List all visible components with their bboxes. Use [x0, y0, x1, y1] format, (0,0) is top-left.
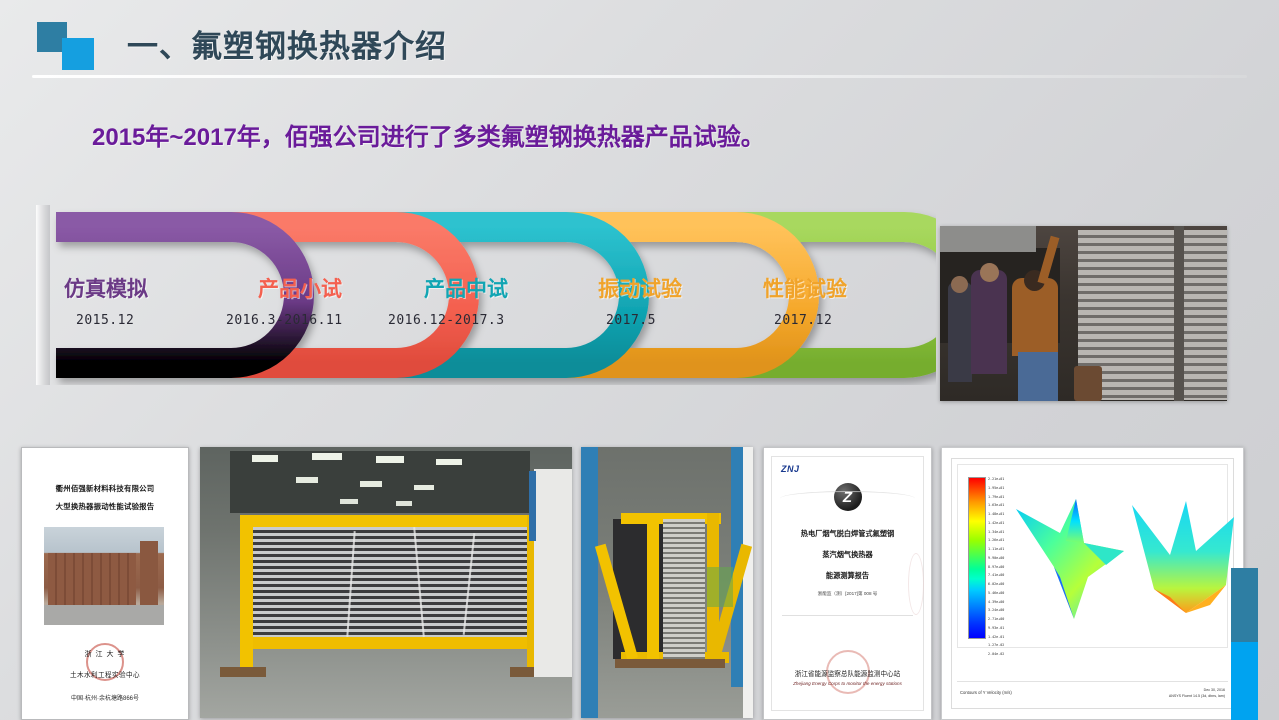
timeline-stage-label-3: 产品中试 [424, 273, 508, 303]
timeline-stage-label-2: 产品小试 [258, 273, 342, 303]
cfd-caption: Contours of Y Velocity (m/s) [960, 690, 1012, 695]
timeline-stage-label-5: 性能试验 [763, 273, 847, 303]
photo-heat-exchanger-inspection [940, 226, 1227, 401]
timeline-stage-label-1: 仿真模拟 [64, 273, 148, 303]
timeline-stage-date-2: 2016.3-2016.11 [226, 313, 343, 328]
slide-canvas: 一、氟塑钢换热器介绍 2015年~2017年，佰强公司进行了多类氟塑钢换热器产品… [0, 0, 1279, 720]
cfd-meta-solver: ANSYS Fluent 14.5 (3d, dbns, lam) [1169, 693, 1225, 699]
photo-test-rig-front [200, 447, 572, 718]
doc1-org: 浙 江 大 学 [30, 649, 180, 659]
timeline-stage-label-4: 振动试验 [598, 273, 682, 303]
photo-test-rig-side [581, 447, 753, 718]
doc2-line2: 蒸汽烟气换热器 [772, 550, 923, 560]
doc1-dept: 土木水利工程实验中心 [30, 669, 180, 679]
timeline-stage-date-3: 2016.12-2017.3 [388, 313, 505, 328]
header-square-bright-icon [62, 38, 94, 70]
cfd-meta: Dec 30, 2016 ANSYS Fluent 14.5 (3d, dbns… [1169, 687, 1225, 699]
doc1-address: 中国·杭州·余杭塘路866号 [30, 693, 180, 702]
znj-flourish-icon [780, 491, 915, 506]
document-vibration-test-report: 衢州佰强新材料科技有限公司 大型换热器振动性能试验报告 浙 江 大 学 土木水利… [21, 447, 189, 720]
znj-logo: ZNJ [781, 464, 800, 474]
slide-subtitle: 2015年~2017年，佰强公司进行了多类氟塑钢换热器产品试验。 [92, 117, 765, 152]
cfd-surface-left [1014, 481, 1134, 631]
header-divider [32, 75, 1247, 78]
cfd-velocity-contour-plot: 2.21e+011.95e+011.79e+011.63e+011.48e+01… [941, 447, 1244, 720]
cfd-colorbar [968, 477, 986, 639]
timeline-stage-date-4: 2017.5 [606, 313, 656, 328]
cfd-surface-right [1130, 493, 1240, 633]
doc1-line1: 衢州佰强新材料科技有限公司 [30, 483, 180, 494]
timeline-stage-date-1: 2015.12 [76, 313, 134, 328]
process-timeline: 仿真模拟 2015.12 产品小试 2016.3-2016.11 产品中试 20… [36, 205, 936, 385]
timeline-stage-date-5: 2017.12 [774, 313, 832, 328]
document-energy-report: ZNJ Z 热电厂烟气脱白焊管式氟塑钢 蒸汽烟气换热器 能源测算报告 浙能监（测… [763, 447, 932, 720]
doc2-doc-number: 浙能监（测）[2017]第 008 号 [772, 591, 923, 597]
doc2-org-cn: 浙江省能源监察总队能源监测中心站 [772, 668, 923, 678]
doc1-line2: 大型换热器振动性能试验报告 [30, 501, 180, 512]
page-title: 一、氟塑钢换热器介绍 [127, 21, 447, 66]
doc2-org-en: Zhejiang Energy Corps to monitor the ene… [772, 681, 923, 686]
doc2-line3: 能源测算报告 [772, 571, 923, 581]
doc2-line1: 热电厂烟气脱白焊管式氟塑钢 [772, 529, 923, 539]
edge-accent-bottom [1231, 642, 1258, 720]
edge-accent-top [1231, 568, 1258, 642]
doc2-edge-seal-icon [908, 553, 924, 615]
doc1-cover-photo [44, 527, 164, 625]
